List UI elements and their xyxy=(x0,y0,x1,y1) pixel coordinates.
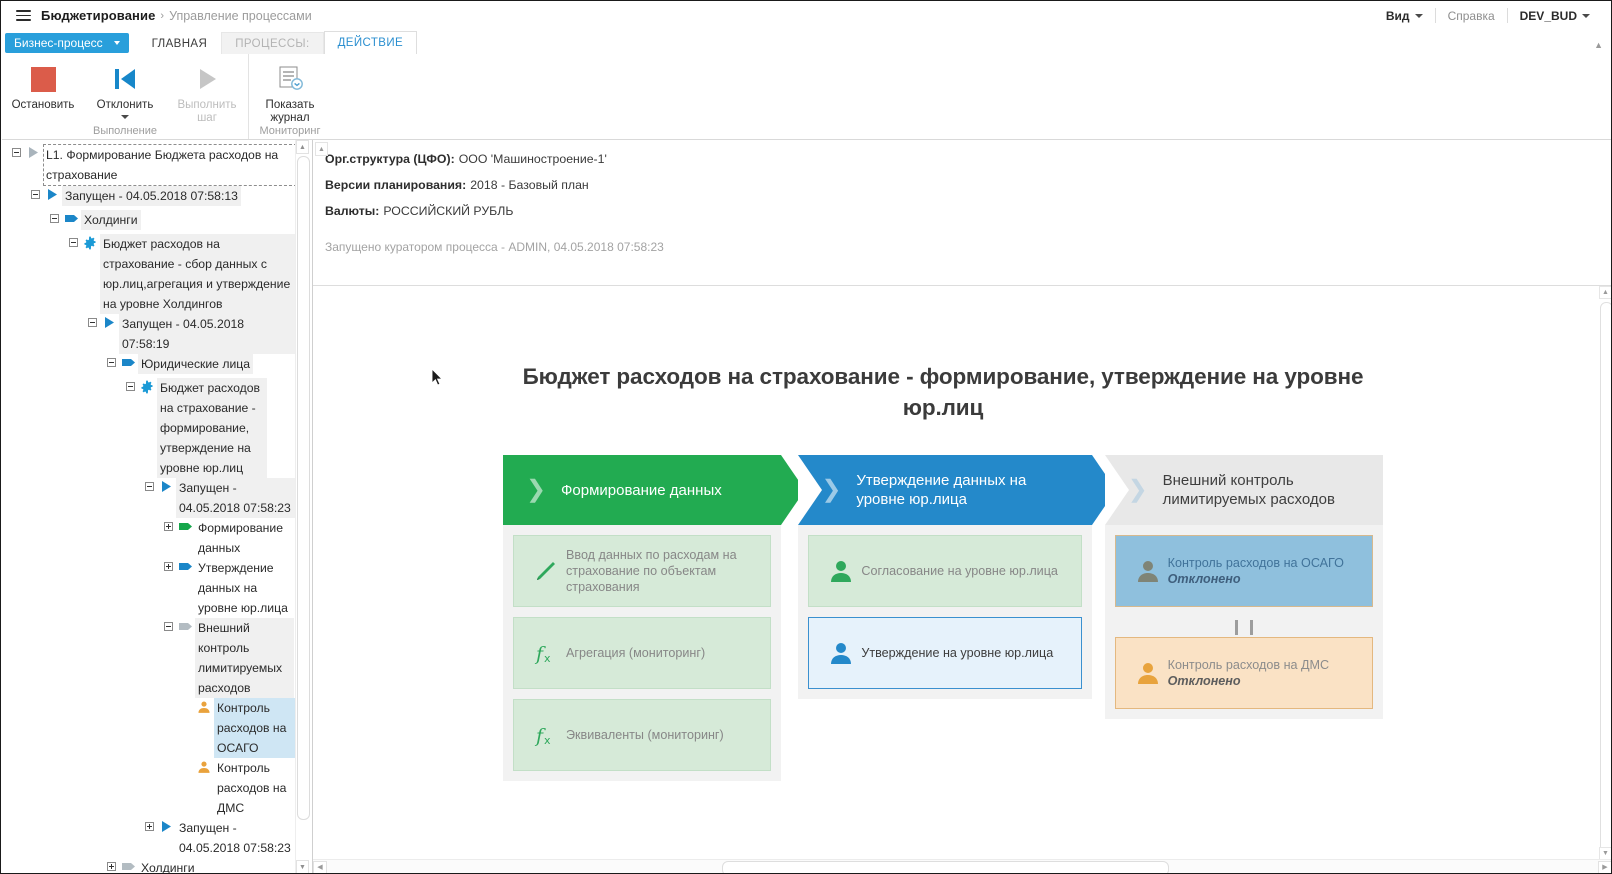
tree-collapse-icon[interactable] xyxy=(67,234,80,258)
tree-indent xyxy=(2,210,48,230)
task-card-equivalents[interactable]: f x Эквиваленты (мониторинг) xyxy=(513,699,771,771)
application-window: Бюджетирование › Управление процессами В… xyxy=(0,0,1612,874)
connector-bar-icon xyxy=(1250,620,1253,635)
diagram-column-approval: ❯ Утверждение данных на уровне юр.лица xyxy=(798,455,1091,699)
meta-label-version: Версии планирования: xyxy=(325,178,466,192)
task-card-osago-control-state: Отклонено xyxy=(1168,571,1344,587)
scrollbar-track[interactable] xyxy=(327,861,1598,874)
play-blue-icon xyxy=(42,186,62,201)
reject-button-label: Отклонить xyxy=(97,99,154,112)
chevron-down-icon xyxy=(114,41,120,45)
connector-bar-icon xyxy=(1235,620,1238,635)
help-link[interactable]: Справка xyxy=(1436,9,1507,23)
stage-body-formation: Ввод данных по расходам на страхование п… xyxy=(503,525,781,781)
chevron-right-icon: ❯ xyxy=(1128,478,1148,502)
task-card-dms-control-state: Отклонено xyxy=(1168,673,1330,689)
detail-horizontal-scrollbar[interactable]: ◀ ▶ xyxy=(313,859,1612,874)
task-card-coordination-label: Согласование на уровне юр.лица xyxy=(861,563,1058,579)
execute-step-button: Выполнить шаг xyxy=(166,58,248,125)
user-menu[interactable]: DEV_BUD xyxy=(1508,9,1602,23)
chevron-down-icon xyxy=(1415,14,1423,18)
task-card-dms-control-text: Контроль расходов на ДМС xyxy=(1168,658,1330,672)
stage-header-approval[interactable]: ❯ Утверждение данных на уровне юр.лица xyxy=(798,455,1091,525)
scroll-down-button[interactable]: ▼ xyxy=(296,860,309,874)
reject-button[interactable]: Отклонить xyxy=(84,58,166,119)
tree-node-label: Бюджет расходов на страхование - формиро… xyxy=(157,378,267,478)
tree-collapse-icon[interactable] xyxy=(162,618,175,642)
scroll-up-button[interactable]: ▲ xyxy=(1599,286,1612,299)
flag-blue-icon xyxy=(175,558,195,573)
show-journal-button-label: Показать журнал xyxy=(251,99,329,125)
tree-node[interactable]: Юридические лица xyxy=(2,354,297,378)
task-card-equivalents-label: Эквиваленты (мониторинг) xyxy=(566,727,724,743)
user-green-icon xyxy=(821,558,861,584)
breadcrumb-root[interactable]: Бюджетирование xyxy=(41,8,155,23)
tree-indent xyxy=(2,518,162,538)
task-card-osago-control-text: Контроль расходов на ОСАГО xyxy=(1168,556,1344,570)
task-card-aggregation[interactable]: f x Агрегация (мониторинг) xyxy=(513,617,771,689)
flag-green-icon xyxy=(175,518,195,533)
ribbon-group-execution-title: Выполнение xyxy=(2,125,248,139)
tree-expand-icon[interactable] xyxy=(162,558,175,582)
play-blue-icon xyxy=(99,314,119,329)
tree-node-label: Холдинги xyxy=(138,858,198,874)
tree-expand-icon[interactable] xyxy=(143,818,156,842)
reject-skip-back-icon xyxy=(110,63,140,95)
meta-row-version: Версии планирования:2018 - Базовый план xyxy=(325,178,1612,192)
execute-step-button-label: Выполнить шаг xyxy=(168,99,246,125)
stage-header-approval-label: Утверждение данных на уровне юр.лица xyxy=(798,471,1091,509)
tree-indent xyxy=(2,858,105,874)
tree-indent xyxy=(2,478,143,498)
task-card-data-entry-label: Ввод данных по расходам на страхование п… xyxy=(566,547,758,595)
task-card-approval[interactable]: Утверждение на уровне юр.лица xyxy=(808,617,1081,689)
task-card-approval-label: Утверждение на уровне юр.лица xyxy=(861,645,1053,661)
chevron-right-icon: ❯ xyxy=(526,478,546,502)
diagram-column-external-control: ❯ Внешний контроль лимитируемых расходов xyxy=(1105,455,1383,719)
svg-text:x: x xyxy=(544,652,551,665)
tab-strip: Бизнес-процесс ГЛАВНАЯ ПРОЦЕССЫ: ДЕЙСТВИ… xyxy=(2,29,1612,55)
ribbon-group-execution: Остановить Отклонить xyxy=(2,54,248,139)
play-step-icon xyxy=(192,63,222,95)
diagram-columns: ❯ Формирование данных xyxy=(503,455,1383,781)
task-card-data-entry[interactable]: Ввод данных по расходам на страхование п… xyxy=(513,535,771,607)
tree-node-label: Запущен - 04.05.2018 07:58:19 xyxy=(119,314,297,354)
journal-clock-icon xyxy=(274,63,306,95)
tree-node[interactable]: Холдинги xyxy=(2,210,297,234)
chevron-notch-icon xyxy=(1105,455,1129,525)
tree-indent xyxy=(2,758,181,778)
tree-indent xyxy=(2,144,10,164)
tree-node[interactable]: Утверждение данных на уровне юр.лица xyxy=(2,558,297,618)
chevron-notch-icon xyxy=(798,455,822,525)
tree-collapse-icon[interactable] xyxy=(143,478,156,502)
tree-node[interactable]: Контроль расходов на ДМС xyxy=(2,758,297,818)
play-grey-icon xyxy=(23,144,43,159)
play-blue-icon xyxy=(156,818,176,833)
task-card-dms-control[interactable]: Контроль расходов на ДМС Отклонено xyxy=(1115,637,1373,709)
gear-blue-icon xyxy=(80,234,100,250)
hamburger-icon[interactable] xyxy=(8,2,38,29)
diagram-title: Бюджет расходов на страхование - формиро… xyxy=(503,361,1383,423)
view-menu-label: Вид xyxy=(1386,9,1410,23)
tree-indent xyxy=(2,818,143,838)
tree-indent xyxy=(2,558,162,578)
tree-indent xyxy=(2,698,181,718)
process-tree: L1. Формирование Бюджета расходов на стр… xyxy=(2,140,297,874)
business-process-button[interactable]: Бизнес-процесс xyxy=(5,33,129,53)
tree-node-label: L1. Формирование Бюджета расходов на стр… xyxy=(43,144,297,186)
tree-node[interactable]: Запущен - 04.05.2018 07:58:23 xyxy=(2,818,297,858)
tree-node-label: Юридические лица xyxy=(138,354,253,374)
tree-vertical-scrollbar[interactable]: ▲ ▼ xyxy=(295,140,309,874)
tree-node[interactable]: L1. Формирование Бюджета расходов на стр… xyxy=(2,144,297,186)
tree-collapse-icon[interactable] xyxy=(10,144,23,168)
meta-label-currency: Валюты: xyxy=(325,204,379,218)
meta-row-org: Орг.структура (ЦФО):ООО 'Машиностроение-… xyxy=(325,152,1612,166)
play-blue-icon xyxy=(156,478,176,493)
tree-node[interactable]: Холдинги xyxy=(2,858,297,874)
tree-node-label: Запущен - 04.05.2018 07:58:23 xyxy=(176,818,295,858)
task-card-osago-control[interactable]: Контроль расходов на ОСАГО Отклонено xyxy=(1115,535,1373,607)
chevron-down-icon xyxy=(1582,14,1590,18)
process-diagram: Бюджет расходов на страхование - формиро… xyxy=(503,361,1383,781)
tree-node[interactable]: Формирование данных xyxy=(2,518,297,558)
tree-node-label: Запущен - 04.05.2018 07:58:23 xyxy=(176,478,295,518)
tree-indent xyxy=(2,314,86,334)
tree-expand-icon[interactable] xyxy=(105,858,118,874)
tree-expand-icon[interactable] xyxy=(162,518,175,542)
task-card-aggregation-label: Агрегация (мониторинг) xyxy=(566,645,705,661)
process-diagram-canvas: Бюджет расходов на страхование - формиро… xyxy=(313,286,1612,852)
tree-collapse-icon[interactable] xyxy=(48,210,61,234)
tree-collapse-icon[interactable] xyxy=(86,314,99,338)
chevron-right-icon: ❯ xyxy=(821,478,841,502)
detail-vertical-scrollbar[interactable]: ▲ ▼ xyxy=(1599,286,1612,860)
tree-indent xyxy=(2,618,162,638)
tab-action[interactable]: ДЕЙСТВИЕ xyxy=(324,31,417,54)
view-menu[interactable]: Вид xyxy=(1374,9,1435,23)
stop-button[interactable]: Остановить xyxy=(2,58,84,112)
tree-indent xyxy=(2,378,124,398)
stage-body-approval: Согласование на уровне юр.лица xyxy=(798,525,1091,699)
fx-icon: f x xyxy=(526,722,566,748)
breadcrumb-separator-icon: › xyxy=(160,10,164,22)
user-orange-icon xyxy=(194,698,214,714)
main-content: L1. Формирование Бюджета расходов на стр… xyxy=(2,140,1612,874)
ribbon-group-monitoring-title: Мониторинг xyxy=(249,125,331,139)
meta-scroll-up-button[interactable]: ▲ xyxy=(315,142,328,156)
flag-blue-icon xyxy=(118,354,138,369)
fx-icon: f x xyxy=(526,640,566,666)
tree-node[interactable]: Бюджет расходов на страхование - формиро… xyxy=(2,378,297,478)
collapse-ribbon-icon[interactable]: ▲ xyxy=(1594,40,1603,50)
tab-glavnaya[interactable]: ГЛАВНАЯ xyxy=(138,32,222,54)
process-meta: ▲ Орг.структура (ЦФО):ООО 'Машиностроени… xyxy=(313,140,1612,286)
flag-blue-icon xyxy=(61,210,81,225)
tree-indent xyxy=(2,234,67,254)
tree-node[interactable]: Запущен - 04.05.2018 07:58:13 xyxy=(2,186,297,210)
user-orange-icon xyxy=(194,758,214,774)
user-grey-icon xyxy=(1128,558,1168,584)
diagram-column-formation: ❯ Формирование данных xyxy=(503,455,781,781)
flag-grey-icon xyxy=(118,858,138,873)
tree-node[interactable]: Запущен - 04.05.2018 07:58:23 xyxy=(2,478,297,518)
task-card-dms-control-label: Контроль расходов на ДМС Отклонено xyxy=(1168,657,1330,689)
ribbon-tabs: ГЛАВНАЯ ПРОЦЕССЫ: ДЕЙСТВИЕ xyxy=(138,29,417,54)
tree-node-label: Внешний контроль лимитируемых расходов xyxy=(195,618,294,698)
tree-collapse-icon[interactable] xyxy=(124,378,137,402)
tree-indent xyxy=(2,354,105,374)
show-journal-button[interactable]: Показать журнал xyxy=(249,58,331,125)
task-card-coordination[interactable]: Согласование на уровне юр.лица xyxy=(808,535,1081,607)
gear-blue-icon xyxy=(137,378,157,394)
tree-node-label: Утверждение данных на уровне юр.лица xyxy=(195,558,294,618)
ribbon-group-monitoring: Показать журнал Мониторинг xyxy=(248,54,331,139)
tree-node-label: Контроль расходов на ДМС xyxy=(214,758,296,818)
tree-node-label: Холдинги xyxy=(81,210,141,230)
breadcrumb-current[interactable]: Управление процессами xyxy=(169,9,312,23)
scroll-left-button[interactable]: ◀ xyxy=(313,861,327,874)
meta-row-currency: Валюты:РОССИЙСКИЙ РУБЛЬ xyxy=(325,204,1612,218)
user-orange-icon xyxy=(1128,660,1168,686)
meta-value-version: 2018 - Базовый план xyxy=(470,178,589,192)
stage-header-external-control[interactable]: ❯ Внешний контроль лимитируемых расходов xyxy=(1105,455,1383,525)
tree-node[interactable]: Бюджет расходов на страхование - сбор да… xyxy=(2,234,297,314)
stop-square-icon xyxy=(31,63,56,95)
ribbon: Остановить Отклонить xyxy=(2,54,1612,140)
tree-node-label: Формирование данных xyxy=(195,518,294,558)
meta-launch-note: Запущено куратором процесса - ADMIN, 04.… xyxy=(325,240,1612,254)
process-tree-panel: L1. Формирование Бюджета расходов на стр… xyxy=(2,140,313,874)
business-process-label: Бизнес-процесс xyxy=(14,36,103,50)
tree-node-label: Запущен - 04.05.2018 07:58:13 xyxy=(62,186,241,206)
tab-processes[interactable]: ПРОЦЕССЫ: xyxy=(221,32,323,54)
user-blue-icon xyxy=(821,640,861,666)
tree-indent xyxy=(2,186,29,206)
tree-node-label: Контроль расходов на ОСАГО xyxy=(214,698,296,758)
scroll-right-button[interactable]: ▶ xyxy=(1598,861,1612,874)
scrollbar-thumb[interactable] xyxy=(1600,302,1612,864)
svg-text:x: x xyxy=(544,734,551,747)
tree-collapse-icon[interactable] xyxy=(105,354,118,378)
scroll-up-button[interactable]: ▲ xyxy=(296,140,309,154)
stage-header-formation[interactable]: ❯ Формирование данных xyxy=(503,455,781,525)
tree-node[interactable]: Запущен - 04.05.2018 07:58:19 xyxy=(2,314,297,354)
tree-node-label: Бюджет расходов на страхование - сбор да… xyxy=(100,234,296,314)
scrollbar-thumb[interactable] xyxy=(297,156,310,820)
stage-body-external-control: Контроль расходов на ОСАГО Отклонено xyxy=(1105,525,1383,719)
pencil-icon xyxy=(526,558,566,584)
user-menu-label: DEV_BUD xyxy=(1520,9,1577,23)
tree-node[interactable]: Внешний контроль лимитируемых расходов xyxy=(2,618,297,698)
top-bar-actions: Вид Справка DEV_BUD xyxy=(1374,8,1612,23)
tree-node[interactable]: Контроль расходов на ОСАГО xyxy=(2,698,297,758)
meta-value-org: ООО 'Машиностроение-1' xyxy=(459,152,607,166)
chevron-down-icon[interactable] xyxy=(121,115,129,119)
flag-grey-icon xyxy=(175,618,195,633)
stop-button-label: Остановить xyxy=(12,99,75,112)
meta-value-currency: РОССИЙСКИЙ РУБЛЬ xyxy=(383,204,513,218)
task-card-osago-control-label: Контроль расходов на ОСАГО Отклонено xyxy=(1168,555,1344,587)
meta-label-org: Орг.структура (ЦФО): xyxy=(325,152,455,166)
top-bar: Бюджетирование › Управление процессами В… xyxy=(2,2,1612,29)
tree-collapse-icon[interactable] xyxy=(29,186,42,210)
card-connector xyxy=(1115,617,1373,637)
process-detail-panel: ▲ Орг.структура (ЦФО):ООО 'Машиностроени… xyxy=(313,140,1612,874)
scrollbar-thumb[interactable] xyxy=(722,861,1169,874)
